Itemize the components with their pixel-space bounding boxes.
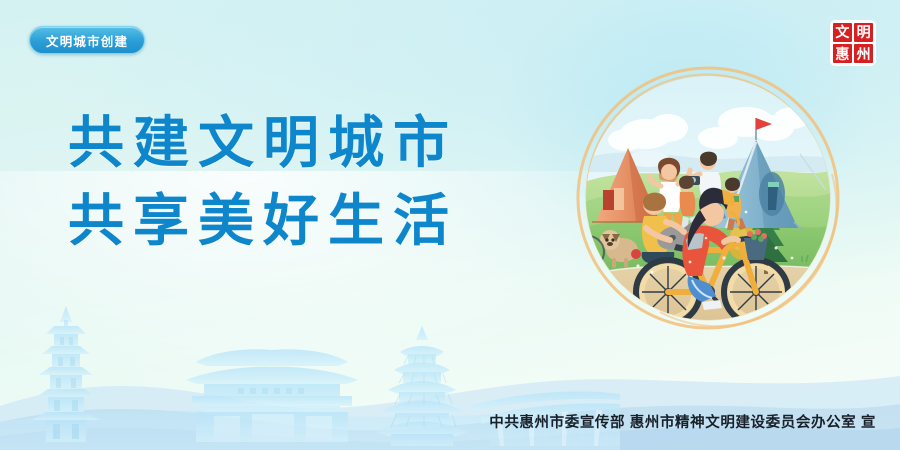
- headline-line-1: 共建文明城市: [68, 104, 458, 182]
- publisher-credit: 中共惠州市委宣传部 惠州市精神文明建设委员会办公室 宣: [489, 411, 876, 432]
- poster-canvas: 文明城市创建 文 明 惠 州 共建文明城市 共享美好生活: [0, 0, 900, 450]
- headline-block: 共建文明城市 共享美好生活: [68, 104, 458, 260]
- wenming-huizhou-seal: 文 明 惠 州: [830, 20, 876, 66]
- seal-char-2: 明: [854, 23, 873, 42]
- camping-scene-medallion: [540, 62, 870, 334]
- campaign-badge-label: 文明城市创建: [46, 31, 128, 50]
- headline-line-2: 共享美好生活: [68, 182, 458, 260]
- campaign-badge[interactable]: 文明城市创建: [29, 26, 145, 54]
- seal-char-4: 州: [854, 44, 873, 63]
- seal-char-3: 惠: [833, 44, 852, 63]
- seal-char-1: 文: [833, 23, 852, 42]
